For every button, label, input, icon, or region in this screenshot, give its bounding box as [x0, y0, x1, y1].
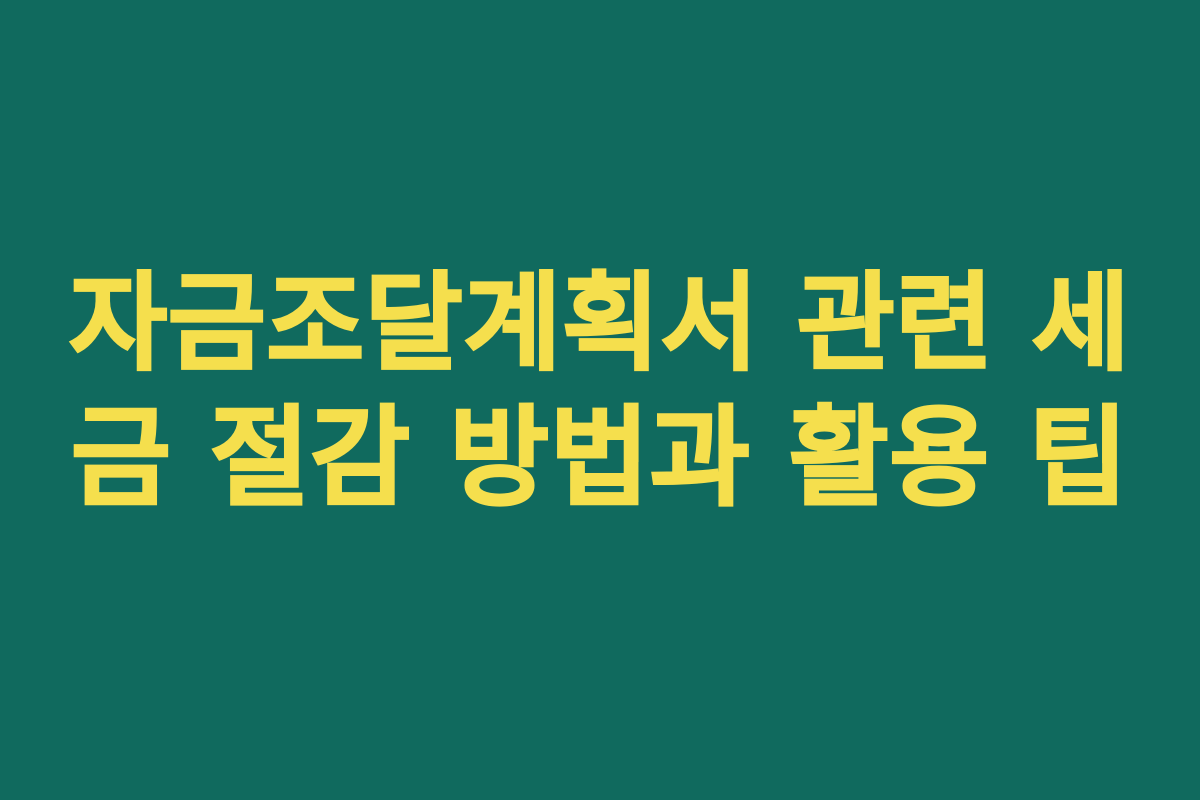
title-line-2: 금 절감 방법과 활용 팁 [71, 391, 1129, 526]
page-title: 자금조달계획서 관련 세 금 절감 방법과 활용 팁 [90, 256, 1110, 526]
title-banner: 자금조달계획서 관련 세 금 절감 방법과 활용 팁 [0, 0, 1200, 800]
title-line-1: 자금조달계획서 관련 세 [70, 256, 1131, 391]
